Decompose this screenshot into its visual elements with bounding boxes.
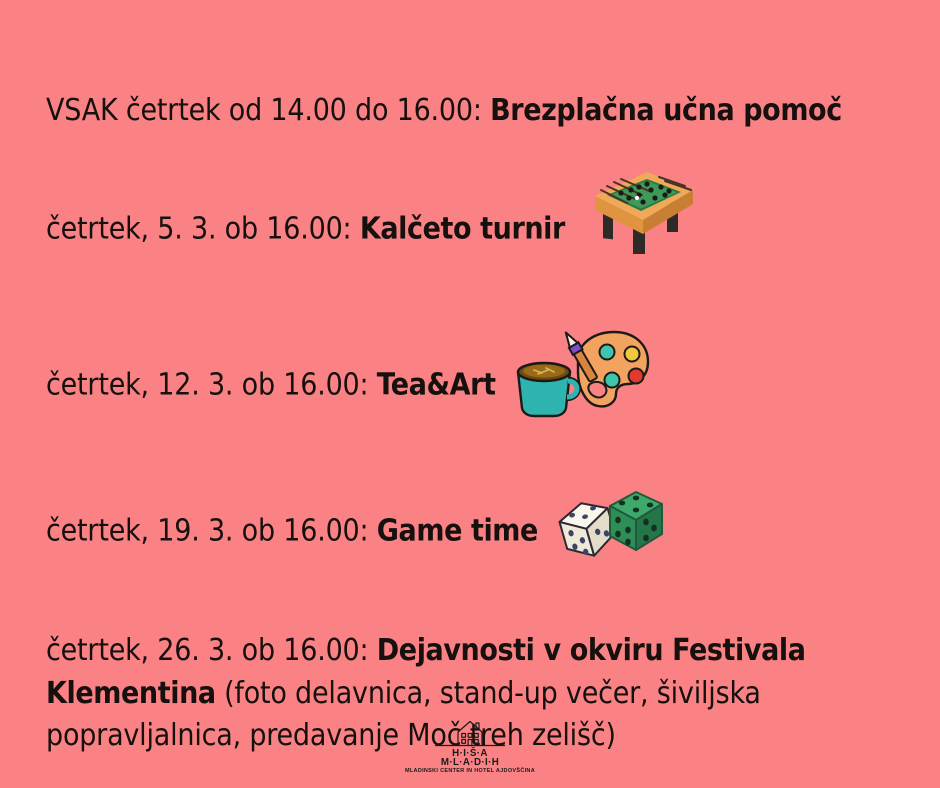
logo-line-2-text: M·L·A·D·I·H <box>470 774 471 775</box>
event-schedule: četrtek, 12. 3. ob 16.00: <box>46 368 377 403</box>
event-row: četrtek, 12. 3. ob 16.00: Tea&Art <box>46 340 896 432</box>
event-title: Brezplačna učna pomoč <box>490 93 842 128</box>
event-title: Game time <box>377 514 538 549</box>
dice-icon <box>556 490 672 566</box>
event-title: Kalčeto turnir <box>360 212 565 247</box>
organization-logo: H·I·Š·A M·L·A·D·I·H MLADINSKI CENTER IN … <box>0 714 940 774</box>
event-schedule: četrtek, 5. 3. ob 16.00: <box>46 212 360 247</box>
logo-line-1-text: H·I·Š·A <box>470 774 471 775</box>
event-row: VSAK četrtek od 14.00 do 16.00: Brezplač… <box>46 96 896 126</box>
event-list: VSAK četrtek od 14.00 do 16.00: Brezplač… <box>46 96 896 758</box>
event-schedule: četrtek, 19. 3. ob 16.00: <box>46 514 377 549</box>
poster-canvas: VSAK četrtek od 14.00 do 16.00: Brezplač… <box>0 0 940 788</box>
foosball-table-icon <box>581 160 703 256</box>
logo-tagline: MLADINSKI CENTER IN HOTEL AJDOVŠČINA <box>0 768 940 774</box>
tea-cup-and-artist-palette-icon <box>512 326 652 418</box>
event-title: Tea&Art <box>377 368 496 403</box>
event-schedule: četrtek, 26. 3. ob 16.00: <box>46 633 377 668</box>
event-schedule: VSAK četrtek od 14.00 do 16.00: <box>46 93 490 128</box>
event-row: četrtek, 19. 3. ob 16.00: Game time <box>46 494 896 570</box>
logo-line-2: M·L·A·D·I·H <box>441 757 499 768</box>
event-row: četrtek, 5. 3. ob 16.00: Kalčeto turnir <box>46 182 896 278</box>
